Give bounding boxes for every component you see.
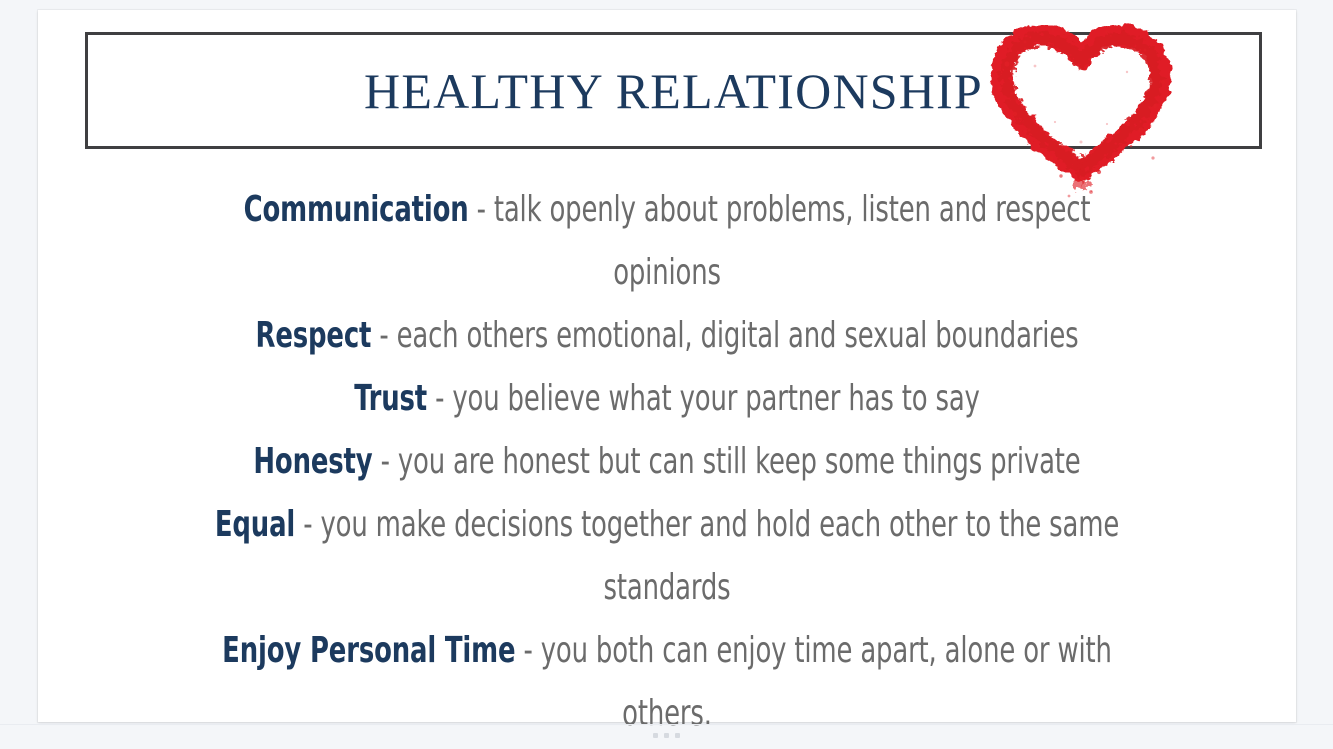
handle-dot bbox=[664, 733, 669, 738]
trait-separator: - bbox=[515, 630, 540, 671]
relationship-traits-list[interactable]: Communication - talk openly about proble… bbox=[78, 178, 1256, 745]
trait-description: you believe what your partner has to say bbox=[452, 378, 979, 419]
trait-description: you both can enjoy time apart, alone or … bbox=[541, 630, 1112, 734]
trait-keyword: Communication bbox=[244, 189, 469, 230]
trait-keyword: Equal bbox=[215, 504, 295, 545]
trait-separator: - bbox=[469, 189, 494, 230]
slide-viewer: HEALTHY RELATIONSHIP bbox=[0, 0, 1333, 749]
page-title: HEALTHY RELATIONSHIP bbox=[88, 35, 1259, 146]
trait-description: each others emotional, digital and sexua… bbox=[397, 315, 1079, 356]
trait-separator: - bbox=[295, 504, 320, 545]
handle-divider bbox=[0, 724, 1333, 725]
slide-canvas[interactable]: HEALTHY RELATIONSHIP bbox=[38, 10, 1296, 722]
trait-separator: - bbox=[427, 378, 452, 419]
trait-keyword: Trust bbox=[354, 378, 427, 419]
trait-keyword: Honesty bbox=[253, 441, 372, 482]
list-item: Trust - you believe what your partner ha… bbox=[196, 367, 1138, 430]
list-item: Equal - you make decisions together and … bbox=[196, 493, 1138, 619]
trait-keyword: Enjoy Personal Time bbox=[222, 630, 515, 671]
list-item: Communication - talk openly about proble… bbox=[196, 178, 1138, 304]
trait-separator: - bbox=[371, 315, 396, 356]
list-item: Respect - each others emotional, digital… bbox=[196, 304, 1138, 367]
trait-description: talk openly about problems, listen and r… bbox=[494, 189, 1091, 293]
title-textbox[interactable]: HEALTHY RELATIONSHIP bbox=[85, 32, 1262, 149]
trait-description: you are honest but can still keep some t… bbox=[398, 441, 1081, 482]
resize-drag-handle[interactable] bbox=[0, 727, 1333, 743]
list-item: Honesty - you are honest but can still k… bbox=[196, 430, 1138, 493]
trait-description: you make decisions together and hold eac… bbox=[320, 504, 1119, 608]
handle-dot bbox=[675, 733, 680, 738]
trait-separator: - bbox=[373, 441, 398, 482]
handle-dot bbox=[653, 733, 658, 738]
trait-keyword: Respect bbox=[256, 315, 372, 356]
